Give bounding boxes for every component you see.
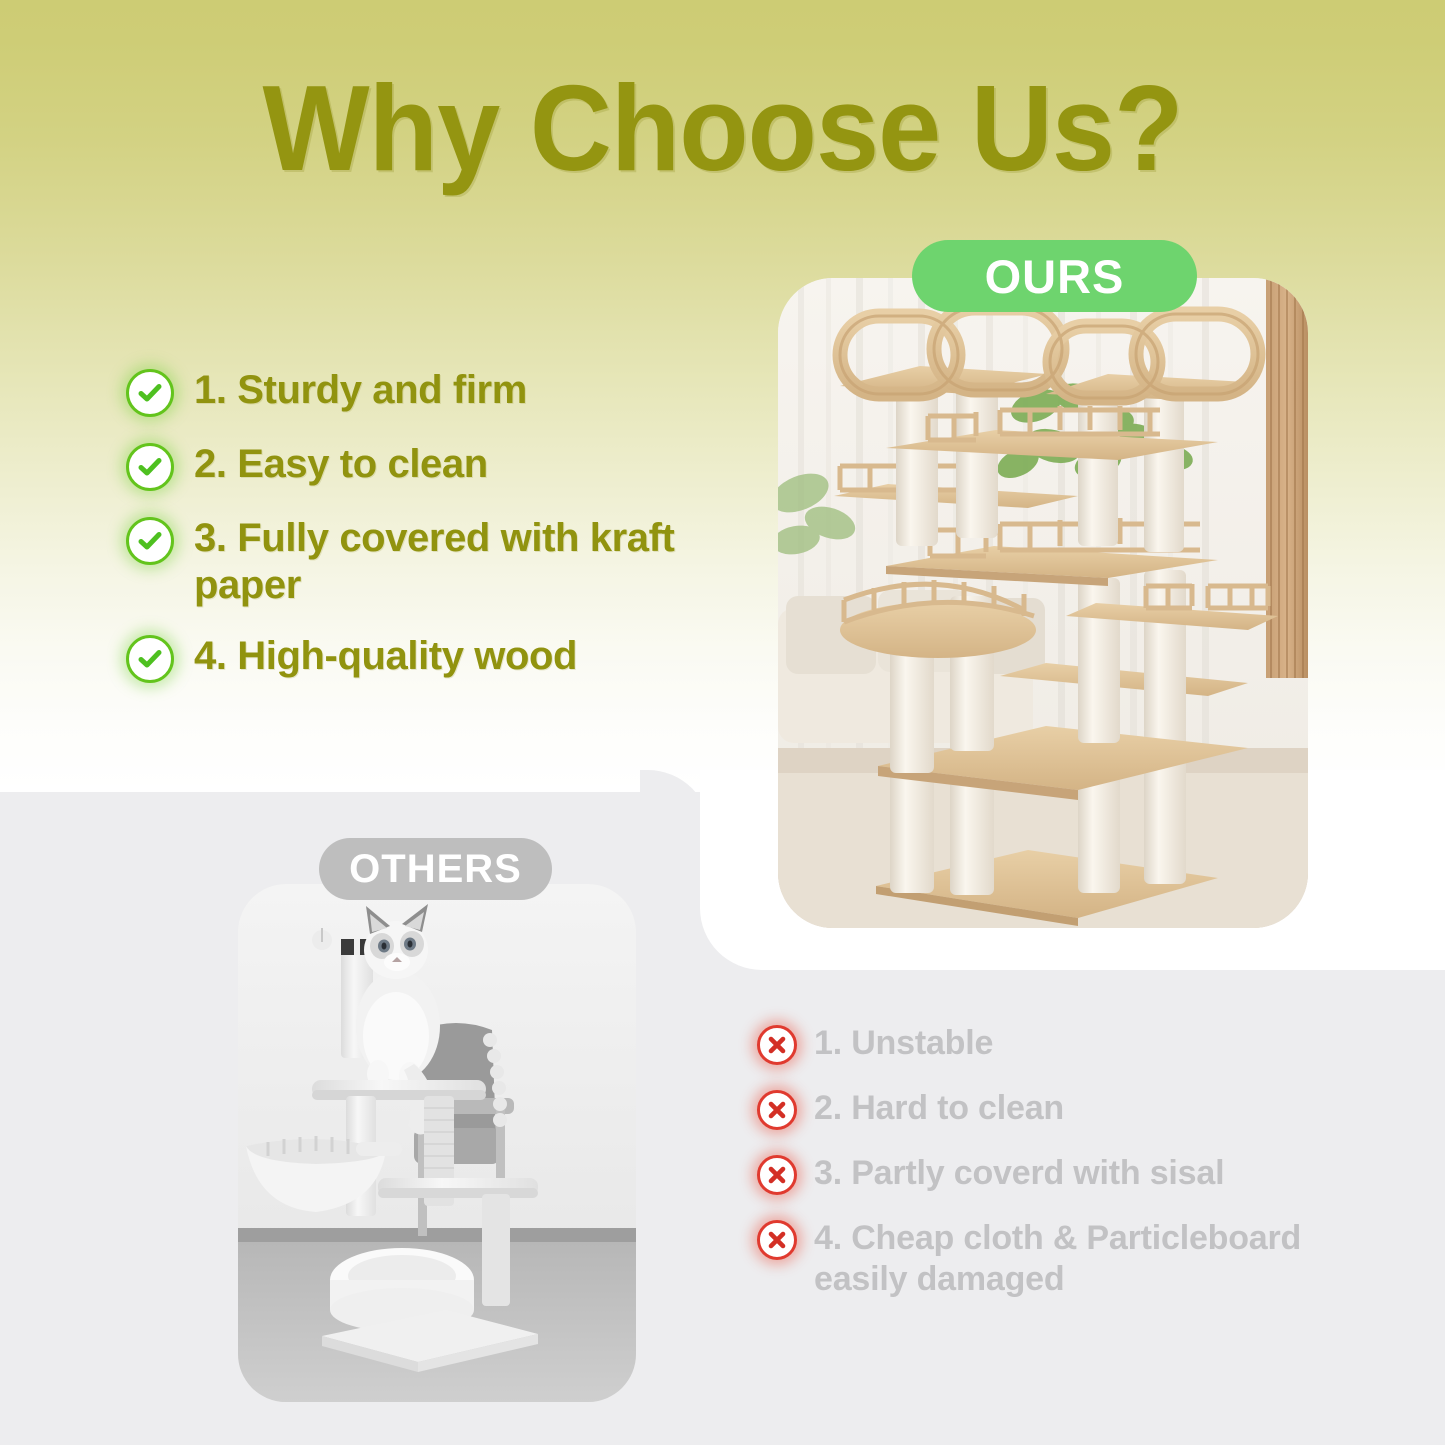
badge-ours-label: OURS [985, 249, 1125, 304]
pro-item-label: 1. Sturdy and firm [194, 365, 527, 414]
list-item: 4. Cheap cloth & Particleboard easily da… [757, 1217, 1397, 1301]
con-item-label: 2. Hard to clean [814, 1087, 1064, 1129]
pros-list: 1. Sturdy and firm 2. Easy to clean 3. F… [126, 365, 726, 683]
badge-ours: OURS [912, 240, 1197, 312]
x-circle-icon [757, 1025, 797, 1065]
list-item: 2. Easy to clean [126, 439, 726, 491]
check-circle-icon [126, 443, 174, 491]
list-item: 3. Partly coverd with sisal [757, 1152, 1397, 1195]
con-item-label: 1. Unstable [814, 1022, 993, 1064]
x-circle-icon [757, 1220, 797, 1260]
x-circle-icon [757, 1090, 797, 1130]
x-circle-icon [757, 1155, 797, 1195]
list-item: 2. Hard to clean [757, 1087, 1397, 1130]
list-item: 1. Sturdy and firm [126, 365, 726, 417]
cons-list: 1. Unstable 2. Hard to clean 3. Partly c… [757, 1022, 1397, 1301]
check-circle-icon [126, 369, 174, 417]
pro-item-label: 4. High-quality wood [194, 631, 577, 680]
comparison-infographic: Why Choose Us? 1. Sturdy and firm 2. Eas… [0, 0, 1445, 1445]
ours-product-photo [778, 278, 1308, 928]
con-item-label: 3. Partly coverd with sisal [814, 1152, 1224, 1194]
others-product-photo [238, 884, 636, 1402]
pro-item-label: 2. Easy to clean [194, 439, 488, 488]
list-item: 3. Fully covered with kraft paper [126, 513, 726, 609]
check-circle-icon [126, 635, 174, 683]
list-item: 1. Unstable [757, 1022, 1397, 1065]
page-title: Why Choose Us? [51, 58, 1395, 198]
badge-others-label: OTHERS [349, 847, 522, 892]
pro-item-label: 3. Fully covered with kraft paper [194, 513, 726, 609]
list-item: 4. High-quality wood [126, 631, 726, 683]
badge-others: OTHERS [319, 838, 552, 900]
con-item-label: 4. Cheap cloth & Particleboard easily da… [814, 1217, 1397, 1301]
check-circle-icon [126, 517, 174, 565]
